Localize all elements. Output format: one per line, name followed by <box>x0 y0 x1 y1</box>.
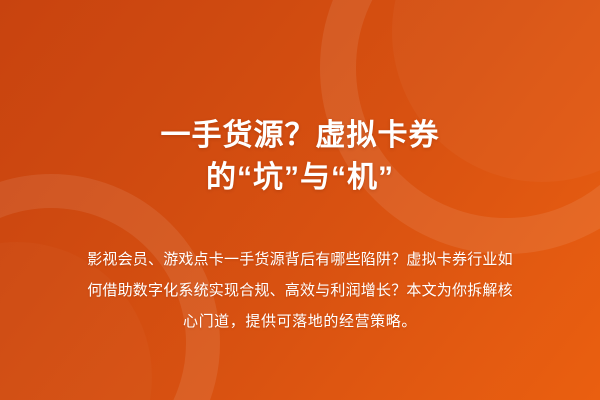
article-cover-banner: 一手货源？虚拟卡券 的“坑”与“机” 影视会员、游戏点卡一手货源背后有哪些陷阱？… <box>0 0 600 400</box>
cover-title: 一手货源？虚拟卡券 的“坑”与“机” <box>20 116 580 198</box>
cover-summary-line-2: 何借助数字化系统实现合规、高效与利润增长？本文为你拆解核 <box>33 275 567 306</box>
cover-title-line-2: 的“坑”与“机” <box>20 158 580 198</box>
cover-summary-line-3: 心门道，提供可落地的经营策略。 <box>33 306 567 337</box>
cover-title-line-1: 一手货源？虚拟卡券 <box>20 116 580 156</box>
cover-summary-line-1: 影视会员、游戏点卡一手货源背后有哪些陷阱？虚拟卡券行业如 <box>33 244 567 275</box>
cover-content: 一手货源？虚拟卡券 的“坑”与“机” 影视会员、游戏点卡一手货源背后有哪些陷阱？… <box>0 0 600 400</box>
cover-summary: 影视会员、游戏点卡一手货源背后有哪些陷阱？虚拟卡券行业如 何借助数字化系统实现合… <box>33 244 567 337</box>
